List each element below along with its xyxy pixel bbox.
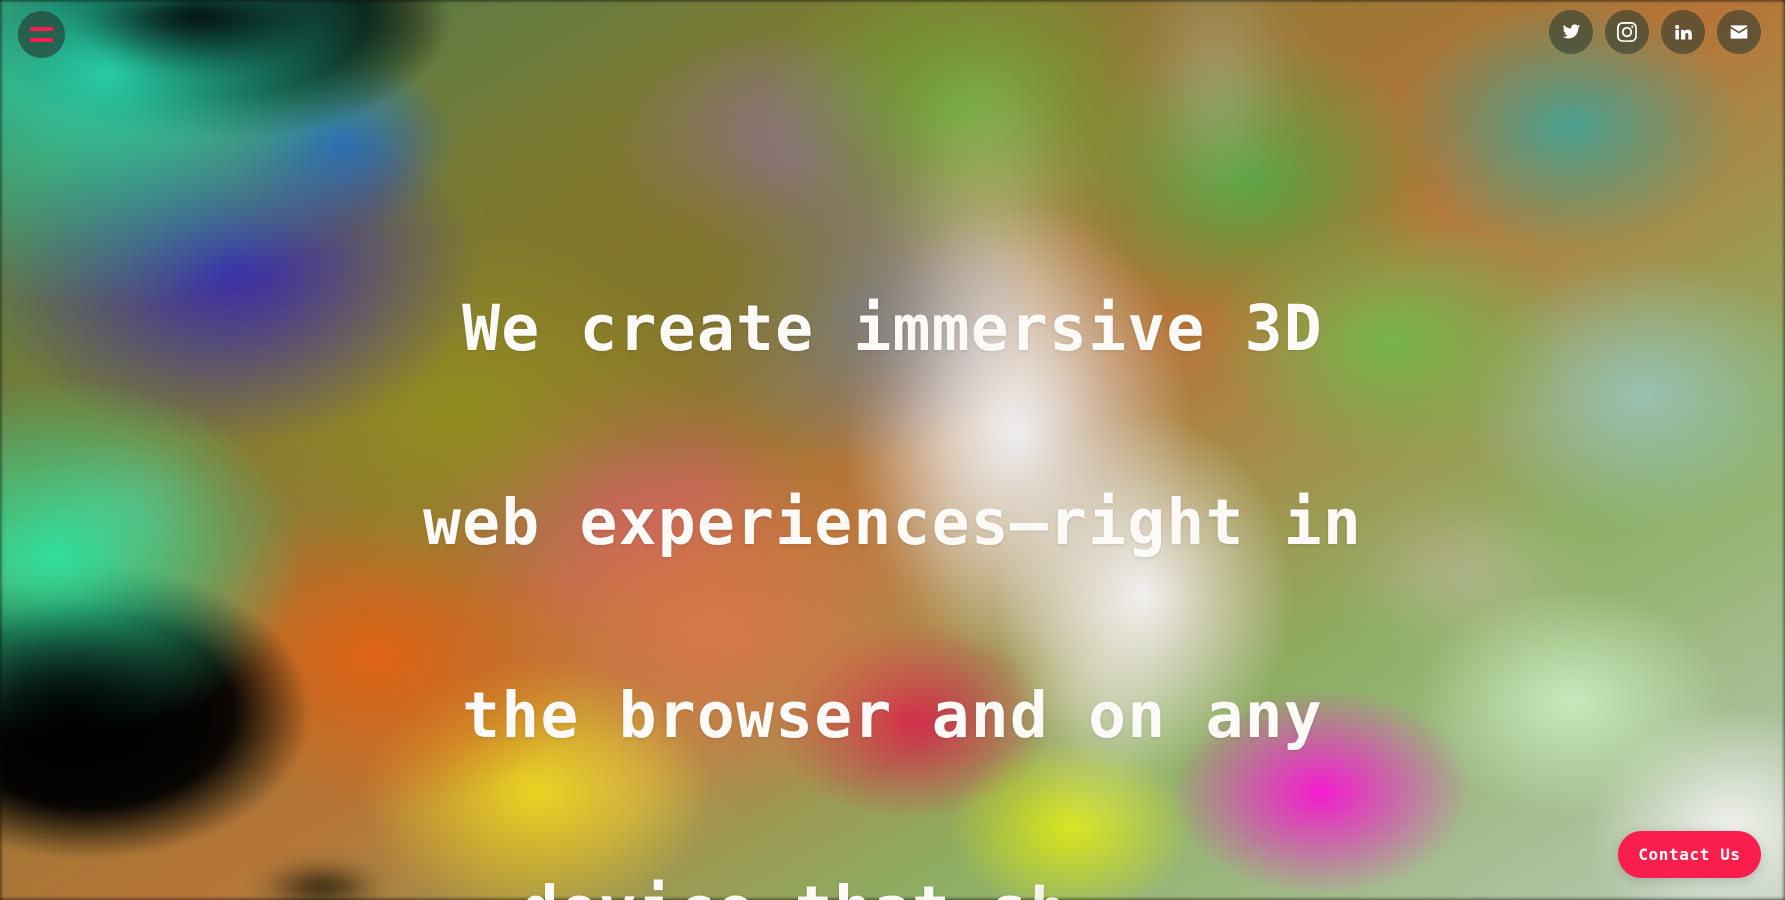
linkedin-icon <box>1673 22 1693 42</box>
social-link-instagram[interactable] <box>1605 10 1649 54</box>
hero-headline: We create immersive 3D web experiences—r… <box>0 168 1785 900</box>
twitter-icon <box>1561 22 1581 42</box>
envelope-icon <box>1729 22 1749 42</box>
headline-line-3: the browser and on any <box>290 684 1495 749</box>
menu-toggle-button[interactable] <box>18 11 65 58</box>
headline-revealing-text: showcas <box>990 873 1264 900</box>
headline-line-1: We create immersive 3D <box>290 297 1495 362</box>
instagram-icon <box>1617 22 1637 42</box>
reveal-char: o <box>1067 882 1109 900</box>
headline-line-2: web experiences—right in <box>290 491 1495 556</box>
hamburger-bar-bottom <box>30 38 53 42</box>
reveal-char: h <box>1029 879 1069 900</box>
reveal-char: w <box>1106 889 1149 900</box>
social-links <box>1549 10 1761 54</box>
headline-line-4: device—that showcas <box>290 878 1495 900</box>
social-link-linkedin[interactable] <box>1661 10 1705 54</box>
contact-us-button[interactable]: Contact Us <box>1618 831 1761 878</box>
social-link-twitter[interactable] <box>1549 10 1593 54</box>
reveal-char: s <box>990 878 1029 900</box>
hamburger-bar-top <box>30 27 53 31</box>
page-root: We create immersive 3D web experiences—r… <box>0 0 1785 900</box>
social-link-email[interactable] <box>1717 10 1761 54</box>
headline-line-4-static: device—that <box>521 873 991 900</box>
